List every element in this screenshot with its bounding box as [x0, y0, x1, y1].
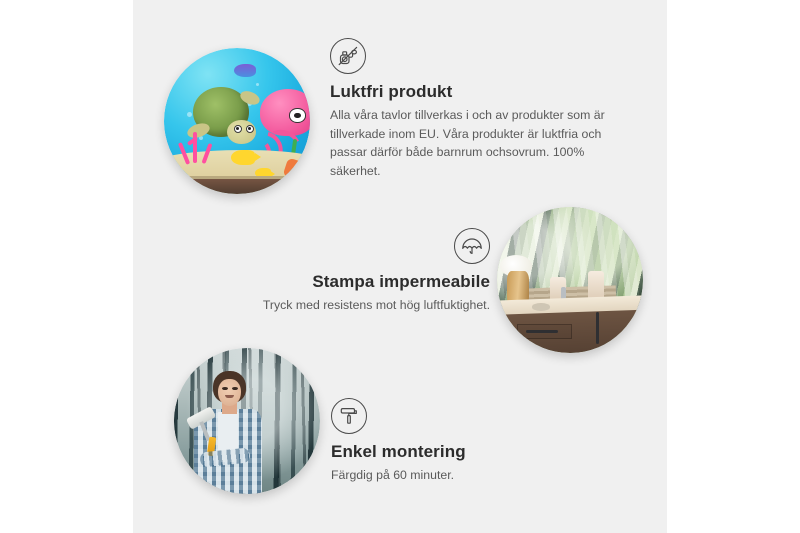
photo-painter-forest — [174, 348, 320, 494]
sea-foreground — [164, 179, 310, 194]
feature-description: Tryck med resistens mot hög luftfuktighe… — [215, 296, 490, 315]
cabinet-handle — [596, 312, 599, 344]
infographic-panel: Luktfri produkt Alla våra tavlor tillver… — [133, 0, 667, 533]
feature-title: Enkel montering — [331, 442, 591, 462]
feature-title: Luktfri produkt — [330, 82, 630, 102]
feature-description: Färgdig på 60 minuter. — [331, 466, 591, 485]
feature-title: Stampa impermeabile — [215, 272, 490, 292]
feature-description: Alla våra tavlor tillverkas i och av pro… — [330, 106, 630, 181]
feature-waterproof: Stampa impermeabile Tryck med resistens … — [215, 228, 490, 315]
bubble-icon — [256, 83, 259, 86]
drawer-handle — [526, 330, 558, 333]
no-perfume-icon — [330, 38, 366, 74]
soap-dish — [532, 303, 550, 310]
umbrella-icon — [454, 228, 490, 264]
coral-icon — [176, 130, 220, 174]
paint-roller-icon — [331, 398, 367, 434]
feature-odour-free: Luktfri produkt Alla våra tavlor tillver… — [330, 38, 630, 181]
octopus-icon — [260, 89, 310, 136]
photo-bathroom-botanical — [497, 207, 643, 353]
yellow-fish-icon — [231, 150, 254, 165]
purple-fish-icon — [234, 64, 256, 77]
photo-underwater-scene — [164, 48, 310, 194]
feature-easy-mounting: Enkel montering Färgdig på 60 minuter. — [331, 398, 591, 485]
infographic-page: Luktfri produkt Alla våra tavlor tillver… — [0, 0, 800, 533]
